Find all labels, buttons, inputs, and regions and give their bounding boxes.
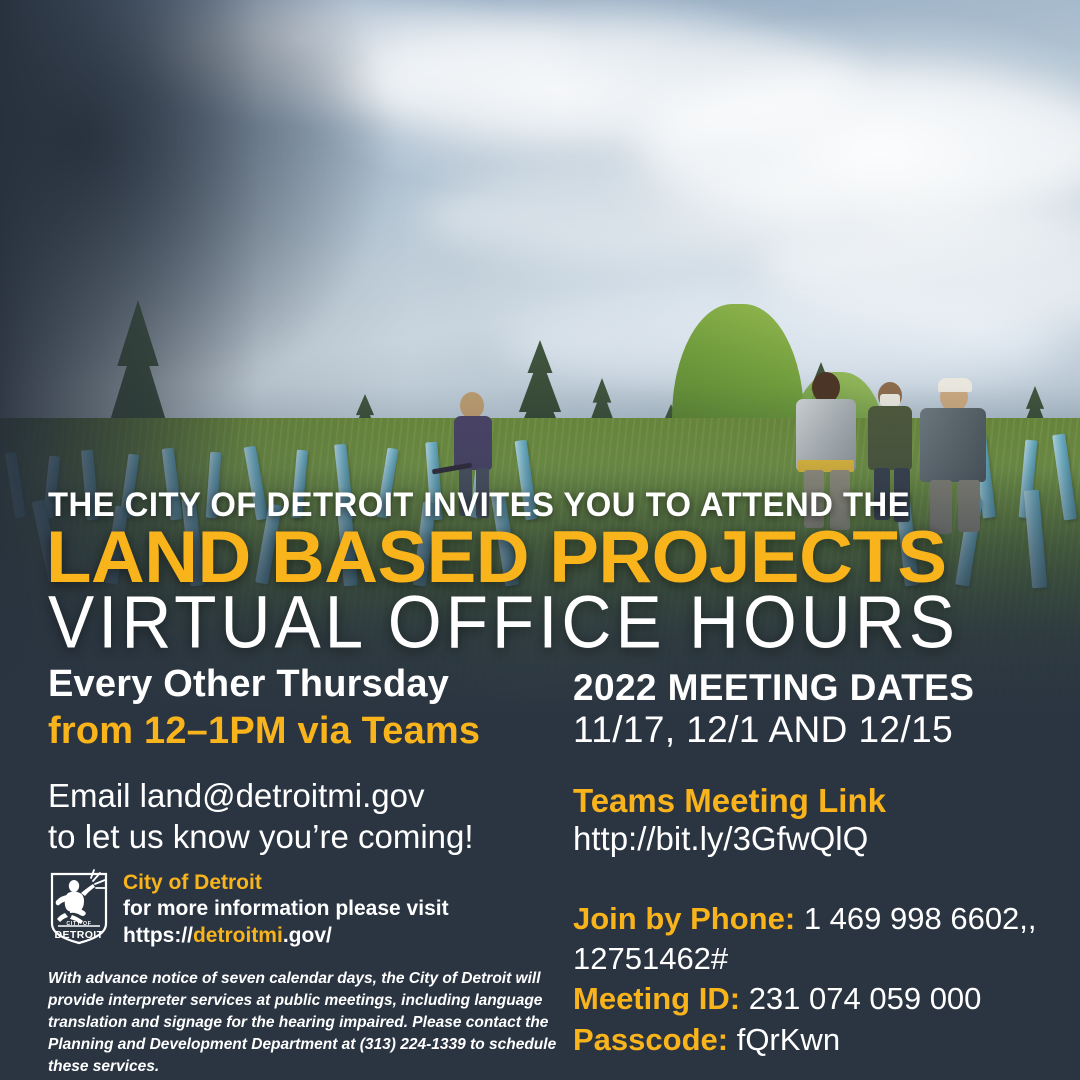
dial-in-details: Join by Phone: 1 469 998 6602,, 12751462… [573,899,1073,1060]
meeting-details-column: 2022 MEETING DATES 11/17, 12/1 AND 12/15… [573,667,1073,1060]
meeting-id-label: Meeting ID: [573,981,740,1016]
city-website-url[interactable]: https://detroitmi.gov/ [123,923,449,949]
join-by-phone-conference-id: 12751462# [573,939,1073,979]
meeting-id-row: Meeting ID: 231 074 059 000 [573,979,1073,1019]
passcode-value: fQrKwn [737,1022,840,1057]
rsvp-email-line[interactable]: Email land@detroitmi.gov [48,776,548,817]
poster-canvas: THE CITY OF DETROIT INVITES YOU TO ATTEN… [0,0,1080,1080]
passcode-label: Passcode: [573,1022,728,1057]
meeting-dates-heading: 2022 MEETING DATES [573,667,1073,708]
more-info-label: for more information please visit [123,896,449,922]
city-logo-text: City of Detroit for more information ple… [123,868,449,949]
svg-text:DETROIT: DETROIT [55,929,104,941]
meeting-time-line: from 12–1PM via Teams [48,709,548,754]
url-prefix: https:// [123,924,193,947]
join-by-phone-label: Join by Phone: [573,901,795,936]
meeting-cadence-line: Every Other Thursday [48,662,548,707]
rsvp-instructions: Email land@detroitmi.gov to let us know … [48,776,548,858]
join-by-phone-value: 1 469 998 6602,, [804,901,1037,936]
hero-subheadline: VIRTUAL OFFICE HOURS [48,585,959,659]
teams-link-heading: Teams Meeting Link [573,782,1073,820]
passcode-row: Passcode: fQrKwn [573,1020,1073,1060]
city-logo-block: CITY OF DETROIT City of Detroit for more… [48,868,449,949]
accessibility-disclaimer: With advance notice of seven calendar da… [48,968,568,1078]
rsvp-followup-line: to let us know you’re coming! [48,817,548,858]
schedule-column: Every Other Thursday from 12–1PM via Tea… [48,662,548,857]
meeting-id-value: 231 074 059 000 [749,981,982,1016]
svg-text:CITY OF: CITY OF [66,921,91,927]
spirit-of-detroit-seal-icon: CITY OF DETROIT [48,868,110,946]
url-suffix: .gov/ [283,924,332,947]
city-name-label: City of Detroit [123,870,449,896]
meeting-dates-values: 11/17, 12/1 AND 12/15 [573,709,1073,751]
teams-meeting-url[interactable]: http://bit.ly/3GfwQlQ [573,820,1073,859]
join-by-phone-row[interactable]: Join by Phone: 1 469 998 6602,, [573,899,1073,939]
url-brand: detroitmi [193,924,283,947]
poster-content: THE CITY OF DETROIT INVITES YOU TO ATTEN… [0,0,1080,1080]
